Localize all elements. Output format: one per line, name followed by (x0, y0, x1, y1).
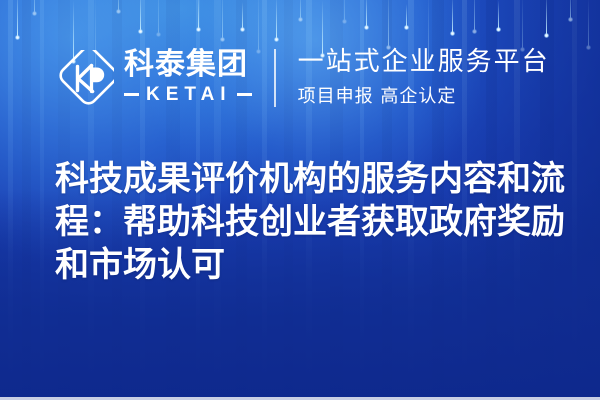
light-beam (140, 0, 141, 32)
light-beam (158, 0, 159, 35)
light-beam (17, 0, 18, 38)
light-beam (118, 0, 119, 12)
brand-text: 科泰集团 KETAI (124, 50, 252, 106)
light-beam (242, 2, 243, 30)
page-title: 科技成果评价机构的服务内容和流程：帮助科技创业者获取政府奖励和市场认可 (55, 158, 565, 287)
banner-header: 科泰集团 KETAI 一站式企业服务平台 项目申报 高企认定 (0, 40, 600, 116)
light-beam (198, 0, 199, 30)
light-beam (34, 0, 35, 14)
light-beam (546, 0, 547, 36)
light-beam (474, 0, 475, 32)
light-beam (452, 0, 453, 34)
ketai-kp-diamond-logo-icon (58, 50, 114, 106)
light-beam (406, 4, 407, 28)
slogan-sub: 项目申报 高企认定 (298, 82, 550, 108)
light-beam (222, 0, 223, 40)
header-divider (274, 49, 276, 107)
brand-lockup: 科泰集团 KETAI (58, 50, 252, 106)
company-name-cn: 科泰集团 (124, 50, 252, 81)
light-beam (366, 0, 367, 28)
light-beam (300, 0, 301, 20)
light-beam (498, 0, 499, 30)
brand-rule-right-icon (237, 93, 252, 96)
promo-banner: 科泰集团 KETAI 一站式企业服务平台 项目申报 高企认定 科技成果评价机构的… (0, 0, 600, 400)
light-beam (276, 0, 277, 40)
slogan-block: 一站式企业服务平台 项目申报 高企认定 (298, 48, 550, 107)
slogan-main: 一站式企业服务平台 (298, 48, 550, 77)
light-beam (570, 0, 571, 20)
brand-rule-left-icon (124, 93, 139, 96)
company-name-en: KETAI (146, 84, 232, 106)
company-name-en-row: KETAI (124, 84, 252, 106)
light-beam (344, 0, 345, 22)
